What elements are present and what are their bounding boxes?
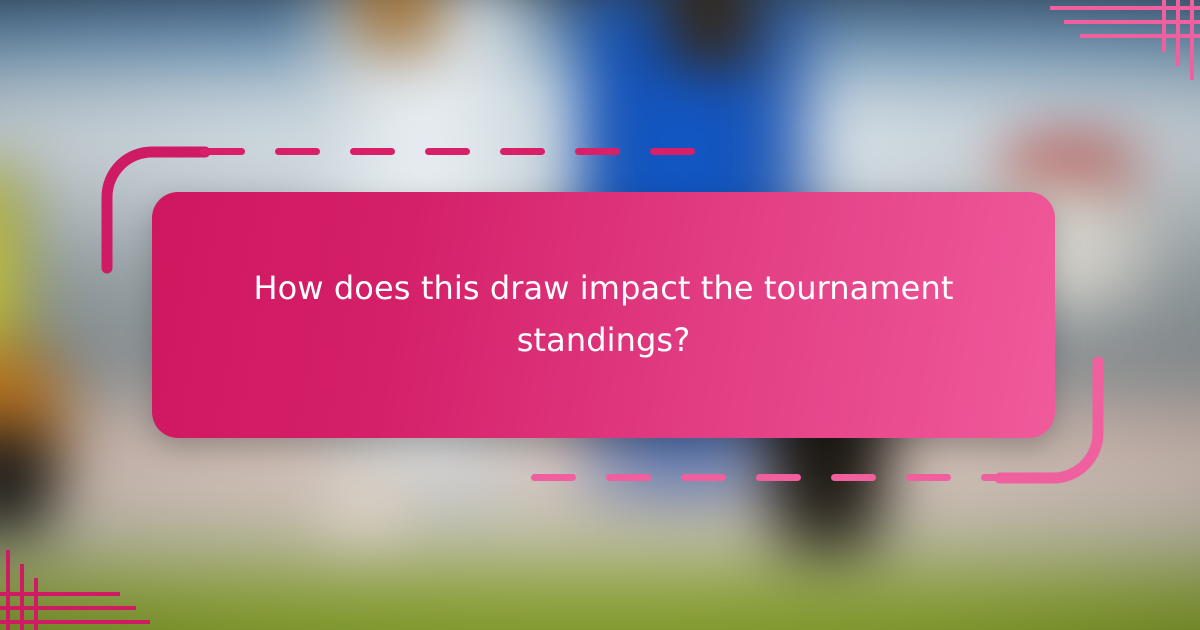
dash-segment bbox=[200, 148, 245, 155]
social-card-canvas: How does this draw impact the tournament… bbox=[0, 0, 1200, 630]
dash-segment bbox=[425, 148, 470, 155]
dashed-line-top bbox=[200, 148, 695, 155]
dash-segment bbox=[756, 474, 801, 481]
dash-segment bbox=[575, 148, 620, 155]
question-card: How does this draw impact the tournament… bbox=[152, 192, 1055, 438]
dash-segment bbox=[500, 148, 545, 155]
corner-ornament-top-right bbox=[1050, 0, 1200, 80]
corner-ornament-bottom-left bbox=[0, 550, 150, 630]
question-text: How does this draw impact the tournament… bbox=[224, 263, 984, 367]
dash-segment bbox=[650, 148, 695, 155]
dashed-line-bottom bbox=[531, 474, 1026, 481]
dash-segment bbox=[681, 474, 726, 481]
dash-segment bbox=[275, 148, 320, 155]
dash-segment bbox=[981, 474, 1026, 481]
dash-segment bbox=[831, 474, 876, 481]
dash-segment bbox=[606, 474, 651, 481]
dash-segment bbox=[350, 148, 395, 155]
dash-segment bbox=[906, 474, 951, 481]
dash-segment bbox=[531, 474, 576, 481]
